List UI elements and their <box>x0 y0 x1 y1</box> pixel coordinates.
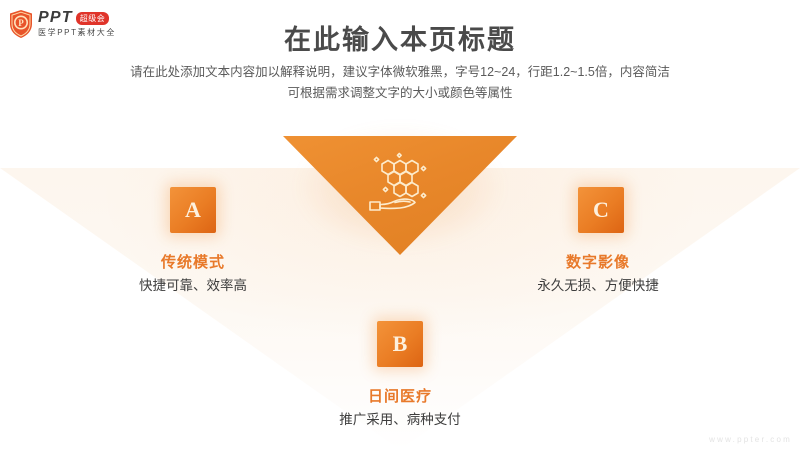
page-title: 在此输入本页标题 <box>0 18 800 57</box>
item-caption-a: 传统模式 快捷可靠、效率高 <box>73 253 313 296</box>
item-tile-b[interactable]: B <box>377 321 423 367</box>
page-subtitle: 请在此处添加文本内容加以解释说明，建议字体微软雅黑，字号12~24，行距1.2~… <box>0 62 800 104</box>
item-tile-c[interactable]: C <box>578 187 624 233</box>
subtitle-line-1: 请在此处添加文本内容加以解释说明，建议字体微软雅黑，字号12~24，行距1.2~… <box>0 62 800 83</box>
item-c-description: 永久无损、方便快捷 <box>478 275 718 296</box>
item-c-title: 数字影像 <box>478 253 718 273</box>
item-a-title: 传统模式 <box>73 253 313 273</box>
item-b-title: 日间医疗 <box>280 387 520 407</box>
item-tile-a[interactable]: A <box>170 187 216 233</box>
slide-canvas: P PPT 超级会 医学PPT素材大全 在此输入本页标题 请在此处添加文本内容加… <box>0 0 800 450</box>
item-caption-c: 数字影像 永久无损、方便快捷 <box>478 253 718 296</box>
item-b-description: 推广采用、病种支付 <box>280 409 520 430</box>
item-caption-b: 日间医疗 推广采用、病种支付 <box>280 387 520 430</box>
item-a-description: 快捷可靠、效率高 <box>73 275 313 296</box>
hand-holding-molecule-icon <box>362 152 438 214</box>
watermark: www.ppter.com <box>709 435 792 444</box>
subtitle-line-2: 可根据需求调整文字的大小或颜色等属性 <box>0 83 800 104</box>
